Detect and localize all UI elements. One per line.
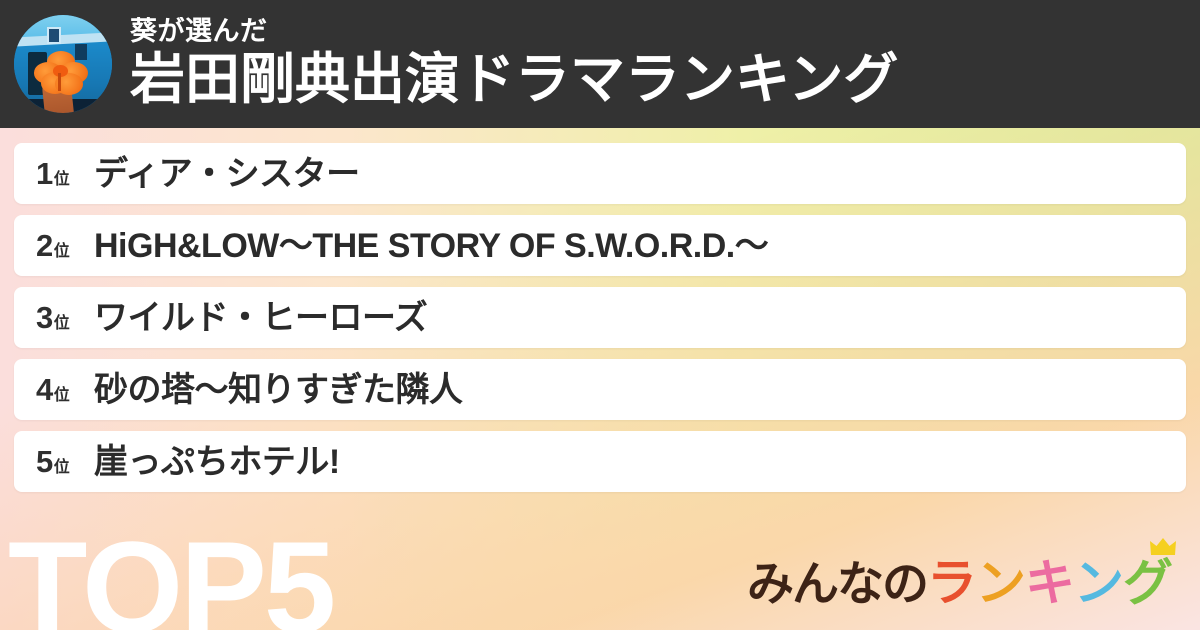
rank-title: 崖っぷちホテル! — [94, 445, 340, 479]
avatar — [14, 15, 112, 113]
hibiscus-flower-icon — [36, 52, 87, 91]
list-item[interactable]: 2 位 HiGH&LOW〜THE STORY OF S.W.O.R.D.〜 — [14, 215, 1186, 276]
rank-badge: 4 位 — [36, 374, 92, 405]
rank-title: 砂の塔〜知りすぎた隣人 — [94, 373, 463, 407]
logo-japanese-text: みんなの — [747, 561, 927, 608]
list-item[interactable]: 3 位 ワイルド・ヒーローズ — [14, 287, 1186, 348]
ranking-list: 1 位 ディア・シスター 2 位 HiGH&LOW〜THE STORY OF S… — [14, 143, 1186, 503]
logo-char-ki: キ — [1025, 558, 1074, 608]
logo-char-n: ン — [976, 558, 1025, 608]
rank-number: 3 — [36, 302, 53, 333]
rank-title: HiGH&LOW〜THE STORY OF S.W.O.R.D.〜 — [94, 229, 768, 263]
rank-unit-label: 位 — [54, 316, 70, 332]
rank-unit-label: 位 — [54, 460, 70, 476]
rank-badge: 2 位 — [36, 230, 92, 261]
rank-number: 4 — [36, 374, 53, 405]
header-bar: 葵が選んだ 岩田剛典出演ドラマランキング — [0, 0, 1200, 128]
page-title: 岩田剛典出演ドラマランキング — [130, 49, 898, 111]
crown-icon — [1150, 538, 1176, 556]
logo-char-gu: グ — [1123, 558, 1172, 608]
rank-number: 1 — [36, 158, 53, 189]
brand-logo[interactable]: みんなの ラ ン キ ン グ — [747, 550, 1172, 608]
header-text-block: 葵が選んだ 岩田剛典出演ドラマランキング — [130, 17, 898, 110]
rank-badge: 3 位 — [36, 302, 92, 333]
logo-char-n2: ン — [1074, 558, 1123, 608]
avatar-window — [47, 27, 61, 45]
rank-unit-label: 位 — [54, 244, 70, 260]
top5-watermark: TOP5 — [8, 522, 333, 630]
rank-title: ディア・シスター — [94, 157, 360, 191]
rank-badge: 5 位 — [36, 446, 92, 477]
rank-number: 5 — [36, 446, 53, 477]
flower-center — [53, 65, 68, 77]
ranking-poster: 葵が選んだ 岩田剛典出演ドラマランキング 1 位 ディア・シスター 2 位 Hi… — [0, 0, 1200, 630]
list-item[interactable]: 1 位 ディア・シスター — [14, 143, 1186, 204]
rank-badge: 1 位 — [36, 158, 92, 189]
list-item[interactable]: 4 位 砂の塔〜知りすぎた隣人 — [14, 359, 1186, 420]
rank-unit-label: 位 — [54, 388, 70, 404]
rank-title: ワイルド・ヒーローズ — [94, 301, 427, 335]
rank-unit-label: 位 — [54, 172, 70, 188]
logo-katakana-text: ラ ン キ ン グ — [927, 558, 1172, 608]
logo-char-gu-text: グ — [1123, 558, 1172, 608]
rank-number: 2 — [36, 230, 53, 261]
logo-char-ra: ラ — [927, 558, 976, 608]
flower-stamen — [58, 73, 61, 91]
header-eyebrow: 葵が選んだ — [130, 17, 898, 47]
list-item[interactable]: 5 位 崖っぷちホテル! — [14, 431, 1186, 492]
